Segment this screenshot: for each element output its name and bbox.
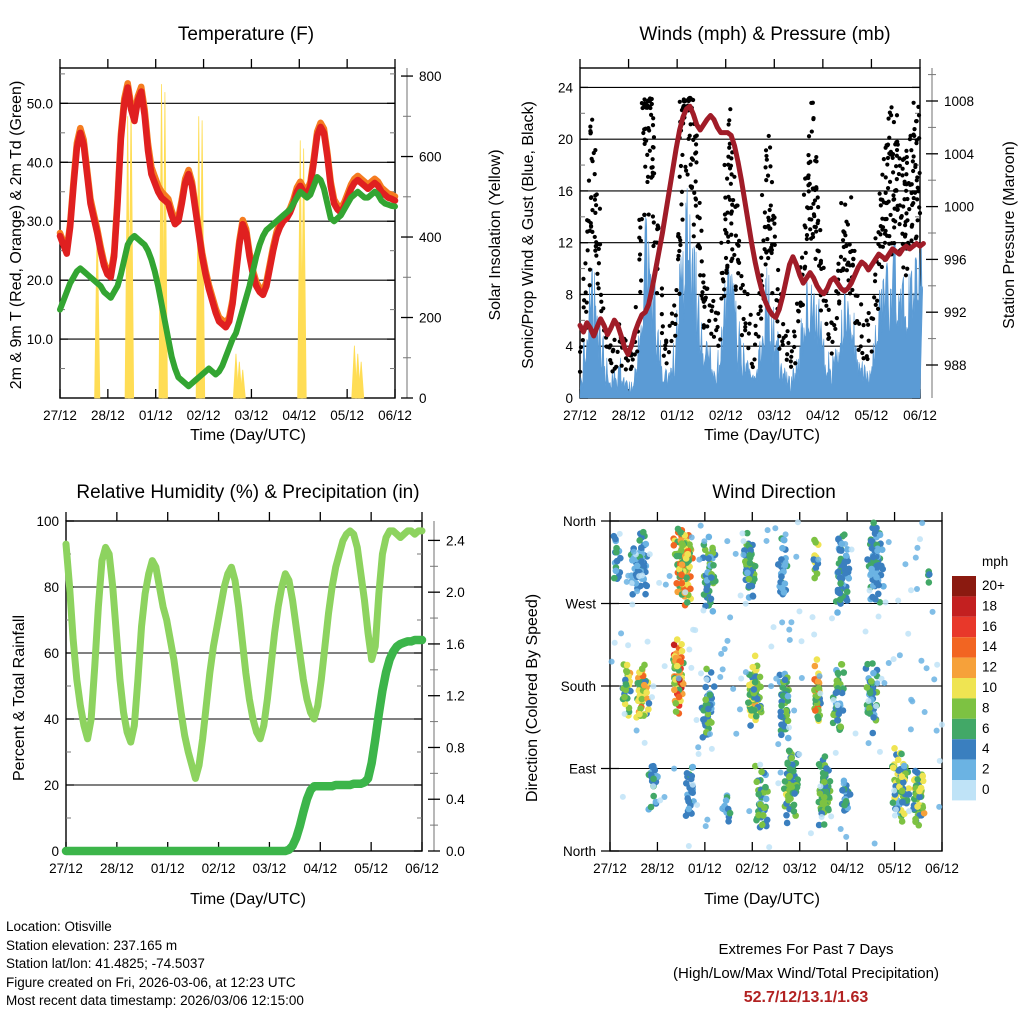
wind-gust-point — [597, 261, 601, 265]
wind-gust-point — [759, 316, 763, 320]
legend-title: mph — [982, 554, 1008, 569]
wind-direction-point — [751, 686, 758, 693]
wind-gust-point — [673, 322, 677, 326]
wind-direction-point — [796, 608, 802, 614]
wind-direction-point — [620, 794, 626, 800]
wind-gust-point — [694, 179, 698, 183]
wind-direction-point — [703, 823, 709, 829]
wind-gust-point — [849, 195, 853, 199]
wind-gust-point — [916, 105, 920, 109]
wind-gust-point — [884, 191, 888, 195]
wind-gust-point — [880, 227, 884, 231]
wind-gust-point — [716, 344, 720, 348]
legend-label: 2 — [982, 762, 990, 777]
x-tick-label: 01/12 — [151, 861, 185, 876]
wind-gust-point — [865, 318, 869, 322]
wind-gust-point — [889, 105, 893, 109]
wind-direction-point — [657, 797, 663, 803]
wind-gust-point — [677, 292, 681, 296]
wind-gust-point — [803, 225, 807, 229]
x-tick-label: 27/12 — [49, 861, 83, 876]
wind-direction-point — [703, 586, 710, 593]
wind-gust-point — [846, 222, 850, 226]
wind-direction-point — [898, 773, 905, 780]
y2-tick-label: 0.0 — [446, 844, 465, 859]
footer-created: Figure created on Fri, 2026-03-06, at 12… — [6, 974, 304, 993]
wind-gust-point — [814, 229, 818, 233]
wind-direction-point — [786, 627, 792, 633]
wind-direction-point — [843, 834, 849, 840]
wind-gust-point — [584, 290, 588, 294]
legend-color-swatch — [952, 780, 976, 800]
wind-gust-point — [888, 180, 892, 184]
legend-label: 10 — [982, 680, 997, 695]
x-tick-label: 28/12 — [641, 861, 675, 876]
y-tick-label: 60 — [44, 646, 59, 661]
wind-gust-point — [759, 309, 763, 313]
wind-gust-point — [713, 318, 717, 322]
wind-gust-point — [734, 234, 738, 238]
wind-direction-point — [791, 708, 797, 714]
wind-direction-point — [899, 799, 906, 806]
wind-direction-point — [895, 598, 901, 604]
wind-gust-point — [643, 165, 647, 169]
wind-direction-point — [763, 796, 770, 803]
temperature-chart: Temperature (F) 10.020.030.040.050.00200… — [0, 0, 512, 448]
humidity-xlabel: Time (Day/UTC) — [190, 891, 306, 908]
wind-gust-point — [872, 295, 876, 299]
wind-gust-point — [886, 117, 890, 121]
wind-gust-point — [728, 166, 732, 170]
extremes-line2: (High/Low/Max Wind/Total Precipitation) — [596, 962, 1016, 986]
wind-gust-point — [905, 218, 909, 222]
wind-direction-point — [912, 818, 919, 825]
wind-direction-point — [758, 769, 765, 776]
wind-direction-point — [908, 697, 914, 703]
wind-gust-point — [722, 287, 726, 291]
wind-direction-point — [827, 778, 834, 785]
wind-direction-point — [781, 537, 788, 544]
wind-gust-point — [664, 340, 668, 344]
wind-gust-point — [650, 174, 654, 178]
wind-gust-point — [809, 206, 813, 210]
wind-gust-point — [741, 283, 745, 287]
y2-tick-label: 2.0 — [446, 585, 465, 600]
wind-direction-point — [846, 566, 853, 573]
wind-gust-point — [836, 262, 840, 266]
wind-direction-point — [828, 813, 834, 819]
wind-direction-point — [674, 663, 681, 670]
wind-gust-point — [851, 263, 855, 267]
wind-gust-point — [702, 305, 706, 309]
wind-gust-point — [806, 153, 810, 157]
wind-direction-point — [733, 731, 739, 737]
wind-direction-point — [707, 731, 713, 737]
wind-direction-point — [905, 631, 911, 637]
wind-direction-point — [612, 640, 618, 646]
wind-direction-point — [864, 684, 871, 691]
wind-direction-point — [936, 804, 942, 810]
wind-direction-point — [741, 538, 747, 544]
wind-gust-point — [722, 163, 726, 167]
wind-gust-point — [911, 159, 915, 163]
wind-gust-point — [726, 240, 730, 244]
wind-gust-point — [873, 279, 877, 283]
wind-direction-point — [822, 753, 829, 760]
wind-direction-point — [937, 758, 943, 764]
wind-gust-point — [729, 156, 733, 160]
wind-gust-point — [785, 358, 789, 362]
wind-gust-point — [916, 186, 920, 190]
wind-direction-point — [649, 763, 656, 770]
wind-direction-point — [870, 520, 877, 527]
wind-gust-point — [824, 304, 828, 308]
wind-direction-point — [916, 788, 923, 795]
wind-gust-point — [593, 211, 597, 215]
x-tick-label: 05/12 — [878, 861, 912, 876]
wind-gust-point — [904, 149, 908, 153]
wind-gust-point — [700, 290, 704, 294]
wind-gust-point — [851, 257, 855, 261]
wind-direction-point — [638, 558, 645, 565]
wind-direction-point — [710, 608, 717, 615]
wind-direction-point — [815, 557, 821, 563]
wind-direction-point — [724, 638, 730, 644]
wind-direction-point — [778, 770, 784, 776]
wind-direction-point — [642, 591, 649, 598]
wind-direction-point — [877, 749, 883, 755]
wind-direction-point — [761, 804, 768, 811]
wind-gust-point — [912, 134, 916, 138]
wind-direction-point — [891, 745, 898, 752]
wind-gust-point — [638, 252, 642, 256]
wind-direction-point — [746, 576, 753, 583]
wind-gust-point — [753, 342, 757, 346]
wind-gust-point — [812, 225, 816, 229]
wind-gust-point — [647, 128, 651, 132]
wind-direction-point — [650, 793, 657, 800]
wind-gust-point — [850, 288, 854, 292]
wind-direction-point — [684, 795, 691, 802]
wind-direction-point — [755, 791, 762, 798]
wind-gust-point — [886, 142, 890, 146]
wind-gust-point — [737, 305, 741, 309]
wind-direction-point — [891, 656, 897, 662]
wind-direction-point — [814, 713, 821, 720]
x-tick-label: 27/12 — [563, 408, 597, 423]
wind-gust-point — [811, 116, 815, 120]
wind-gust-point — [692, 191, 696, 195]
wind-gust-point — [691, 158, 695, 162]
wind-direction-point — [914, 545, 920, 551]
wind-gust-point — [747, 331, 751, 335]
x-tick-label: 05/12 — [855, 408, 889, 423]
y-tick-label: 0 — [565, 391, 573, 406]
wind-direction-point — [765, 527, 771, 533]
wind-gust-point — [763, 210, 767, 214]
winds-ylabel-right: Station Pressure (Maroon) — [1001, 141, 1018, 329]
x-tick-label: 03/12 — [253, 861, 287, 876]
wind-direction-point — [625, 573, 631, 579]
wind-direction-point — [778, 573, 785, 580]
wind-direction-point — [684, 770, 691, 777]
wind-gust-point — [588, 283, 592, 287]
wind-gust-point — [639, 278, 643, 282]
wind-gust-point — [660, 331, 664, 335]
x-tick-label: 04/12 — [806, 408, 840, 423]
wind-direction-point — [727, 810, 734, 817]
wind-direction-point — [916, 794, 923, 801]
wind-direction-point — [814, 570, 821, 577]
wind-gust-point — [860, 334, 864, 338]
footer-elevation: Station elevation: 237.165 m — [6, 937, 304, 956]
wind-direction-point — [817, 783, 823, 789]
wind-gust-point — [651, 123, 655, 127]
wind-gust-point — [769, 203, 773, 207]
wind-gust-point — [716, 311, 720, 315]
wind-gust-point — [881, 245, 885, 249]
wind-gust-point — [910, 182, 914, 186]
x-tick-label: 03/12 — [783, 861, 817, 876]
wind-gust-point — [907, 207, 911, 211]
x-tick-label: 06/12 — [925, 861, 959, 876]
wind-gust-point — [732, 253, 736, 257]
wind-direction-point — [883, 599, 889, 605]
wind-direction-point — [791, 808, 798, 815]
wind-gust-point — [719, 241, 723, 245]
y-tick-label: 20.0 — [27, 273, 53, 288]
wind-direction-point — [642, 740, 648, 746]
wind-direction-point — [876, 562, 883, 569]
wind-gust-point — [910, 225, 914, 229]
wind-gust-point — [683, 165, 687, 169]
wind-gust-point — [651, 214, 655, 218]
wind-gust-point — [789, 355, 793, 359]
wind-gust-point — [645, 180, 649, 184]
winddir-chart: Wind Direction NorthWestSouthEastNorth27… — [512, 448, 1024, 918]
wind-gust-point — [911, 201, 915, 205]
wind-gust-point — [915, 138, 919, 142]
wind-gust-point — [647, 212, 651, 216]
wind-direction-point — [739, 530, 745, 536]
wind-direction-point — [679, 648, 686, 655]
x-tick-label: 06/12 — [903, 408, 937, 423]
wind-direction-point — [746, 808, 752, 814]
wind-direction-point — [663, 582, 669, 588]
wind-direction-point — [705, 706, 712, 713]
wind-gust-point — [689, 163, 693, 167]
wind-direction-point — [686, 646, 692, 652]
wind-gust-point — [875, 299, 879, 303]
wind-gust-point — [692, 222, 696, 226]
wind-gust-point — [651, 157, 655, 161]
wind-direction-point — [744, 570, 751, 577]
wind-direction-point — [834, 678, 841, 685]
wind-gust-point — [809, 217, 813, 221]
wind-gust-point — [737, 239, 741, 243]
legend-label: 12 — [982, 660, 997, 675]
wind-gust-point — [818, 228, 822, 232]
x-tick-label: 02/12 — [735, 861, 769, 876]
wind-gust-point — [652, 220, 656, 224]
wind-direction-point — [639, 696, 646, 703]
wind-direction-point — [778, 731, 785, 738]
wind-gust-point — [736, 271, 740, 275]
wind-gust-point — [611, 349, 615, 353]
wind-gust-point — [824, 299, 828, 303]
wind-gust-point — [698, 245, 702, 249]
wind-direction-point — [796, 751, 802, 757]
wind-direction-point — [679, 542, 686, 549]
wind-gust-point — [887, 234, 891, 238]
wind-direction-point — [791, 802, 798, 809]
legend-color-swatch — [952, 760, 976, 780]
wind-direction-point — [870, 554, 877, 561]
wind-direction-point — [768, 644, 774, 650]
wind-gust-point — [789, 359, 793, 363]
wind-gust-point — [866, 323, 870, 327]
wind-direction-point — [844, 597, 851, 604]
wind-gust-point — [640, 217, 644, 221]
wind-gust-point — [767, 134, 771, 138]
wind-direction-point — [634, 728, 640, 734]
wind-gust-point — [725, 210, 729, 214]
wind-direction-point — [673, 708, 680, 715]
wind-gust-point — [904, 172, 908, 176]
wind-direction-point — [912, 768, 919, 775]
wind-direction-point — [689, 789, 696, 796]
wind-direction-point — [814, 656, 821, 663]
legend-label: 16 — [982, 619, 997, 634]
wind-gust-point — [589, 224, 593, 228]
wind-direction-point — [791, 790, 798, 797]
wind-direction-point — [694, 717, 700, 723]
wind-gust-point — [678, 243, 682, 247]
wind-gust-point — [702, 300, 706, 304]
y2-tick-label: 600 — [419, 150, 442, 165]
wind-direction-point — [710, 562, 717, 569]
wind-direction-point — [892, 812, 898, 818]
wind-direction-point — [875, 591, 882, 598]
wind-gust-point — [876, 307, 880, 311]
wind-gust-point — [672, 303, 676, 307]
x-tick-label: 06/12 — [405, 861, 439, 876]
wind-gust-point — [677, 249, 681, 253]
wind-gust-point — [670, 312, 674, 316]
legend-color-swatch — [952, 637, 976, 657]
wind-direction-point — [922, 709, 928, 715]
wind-direction-point — [752, 563, 759, 570]
x-tick-label: 05/12 — [354, 861, 388, 876]
wind-direction-point — [783, 531, 789, 537]
winddir-y-tick-label: West — [565, 597, 596, 612]
y2-tick-label: 200 — [419, 311, 442, 326]
wind-gust-point — [912, 127, 916, 131]
wind-gust-point — [905, 267, 909, 271]
wind-gust-point — [594, 254, 598, 258]
wind-direction-point — [676, 694, 683, 701]
wind-gust-point — [694, 160, 698, 164]
wind-direction-point — [881, 680, 887, 686]
wind-gust-point — [663, 347, 667, 351]
wind-direction-point — [738, 593, 744, 599]
wind-gust-point — [807, 189, 811, 193]
wind-gust-point — [865, 357, 869, 361]
wind-direction-point — [778, 702, 785, 709]
y2-tick-label: 1.2 — [446, 689, 465, 704]
wind-gust-point — [767, 218, 771, 222]
wind-direction-point — [617, 531, 623, 537]
wind-direction-point — [708, 574, 715, 581]
wind-direction-point — [786, 747, 793, 754]
wind-gust-point — [891, 152, 895, 156]
wind-gust-point — [895, 177, 899, 181]
wind-gust-point — [705, 324, 709, 328]
wind-direction-point — [614, 558, 621, 565]
humidity-ylabel-left: Percent & Total Rainfall — [11, 615, 28, 781]
wind-direction-point — [683, 780, 690, 787]
wind-direction-point — [918, 658, 924, 664]
wind-direction-point — [785, 693, 792, 700]
legend-label: 8 — [982, 700, 990, 715]
wind-direction-point — [688, 665, 694, 671]
wind-direction-point — [811, 631, 817, 637]
wind-direction-point — [700, 608, 706, 614]
wind-direction-point — [639, 572, 645, 578]
wind-gust-point — [750, 362, 754, 366]
wind-gust-point — [769, 245, 773, 249]
x-tick-label: 04/12 — [303, 861, 337, 876]
wind-direction-point — [810, 614, 816, 620]
wind-gust-point — [712, 335, 716, 339]
wind-gust-point — [630, 365, 634, 369]
y-tick-label: 20 — [44, 778, 59, 793]
wind-direction-point — [689, 534, 695, 540]
wind-gust-point — [694, 197, 698, 201]
wind-gust-point — [651, 116, 655, 120]
wind-gust-point — [806, 183, 810, 187]
wind-direction-point — [777, 709, 784, 716]
wind-direction-point — [853, 731, 859, 737]
wind-direction-point — [899, 818, 906, 825]
wind-direction-point — [897, 652, 903, 658]
wind-direction-point — [645, 706, 652, 713]
wind-gust-point — [726, 195, 730, 199]
wind-direction-point — [869, 730, 876, 737]
panel-humidity: Relative Humidity (%) & Precipitation (i… — [0, 448, 512, 918]
wind-direction-point — [934, 728, 940, 734]
winds-chart: Winds (mph) & Pressure (mb) 048121620249… — [512, 0, 1024, 448]
wind-direction-point — [752, 679, 759, 686]
wind-gust-point — [912, 101, 916, 105]
wind-gust-point — [597, 286, 601, 290]
wind-direction-point — [671, 687, 678, 694]
wind-gust-point — [635, 349, 639, 353]
wind-gust-point — [730, 209, 734, 213]
wind-direction-point — [799, 638, 805, 644]
wind-direction-point — [834, 689, 841, 696]
wind-direction-point — [773, 676, 779, 682]
x-tick-label: 02/12 — [709, 408, 743, 423]
wind-gust-point — [598, 242, 602, 246]
wind-gust-point — [796, 309, 800, 313]
wind-gust-point — [764, 178, 768, 182]
wind-gust-point — [766, 174, 770, 178]
wind-gust-point — [808, 227, 812, 231]
wind-direction-point — [865, 698, 871, 704]
wind-gust-point — [891, 170, 895, 174]
x-tick-label: 27/12 — [593, 861, 627, 876]
